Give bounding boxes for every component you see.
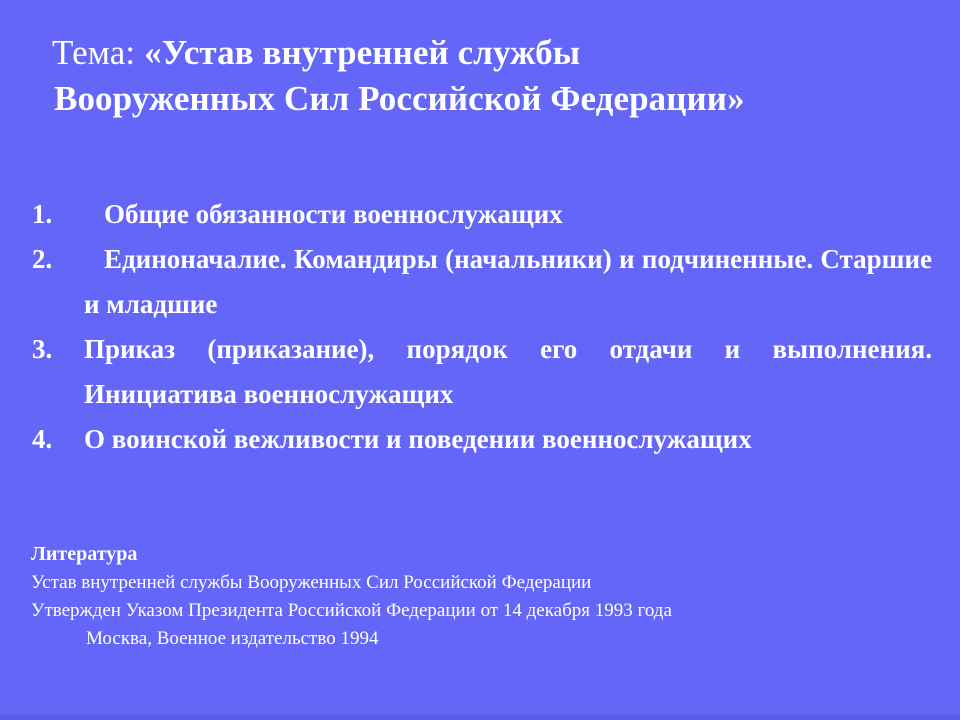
agenda-item-1: 1. Общие обязанности военнослужащих bbox=[32, 192, 932, 237]
slide-title: Тема: «Устав внутренней службы Вооруженн… bbox=[52, 30, 922, 122]
literature-heading: Литература bbox=[31, 540, 931, 569]
agenda-item-2-marker: 2. bbox=[32, 237, 84, 282]
agenda-item-4: 4. О воинской вежливости и поведении вое… bbox=[32, 417, 932, 462]
presentation-slide: Тема: «Устав внутренней службы Вооруженн… bbox=[0, 0, 960, 720]
literature-line-2: Утвержден Указом Президента Российской Ф… bbox=[31, 597, 931, 625]
agenda-item-4-text: О воинской вежливости и поведении военно… bbox=[84, 417, 932, 462]
literature-line-1: Устав внутренней службы Вооруженных Сил … bbox=[31, 569, 931, 597]
agenda-list: 1. Общие обязанности военнослужащих 2. Е… bbox=[32, 192, 932, 462]
agenda-item-3-marker: 3. bbox=[32, 327, 84, 372]
title-line-2: Вооруженных Сил Российской Федерации» bbox=[54, 76, 922, 122]
title-main-part-1: «Устав внутренней службы bbox=[144, 33, 580, 72]
agenda-item-1-text: Общие обязанности военнослужащих bbox=[84, 192, 932, 237]
agenda-item-2: 2. Единоначалие. Командиры (начальники) … bbox=[32, 237, 932, 327]
agenda-item-4-marker: 4. bbox=[32, 417, 84, 462]
agenda-item-2-text: Единоначалие. Командиры (начальники) и п… bbox=[84, 237, 932, 327]
agenda-item-1-marker: 1. bbox=[32, 192, 84, 237]
title-line-1: Тема: «Устав внутренней службы bbox=[52, 30, 922, 76]
agenda-item-3: 3. Приказ (приказание), порядок его отда… bbox=[32, 327, 932, 417]
literature-block: Литература Устав внутренней службы Воору… bbox=[31, 540, 931, 653]
slide-bottom-edge bbox=[0, 715, 960, 720]
literature-line-3: Москва, Военное издательство 1994 bbox=[31, 625, 931, 653]
agenda-item-3-text: Приказ (приказание), порядок его отдачи … bbox=[84, 327, 932, 417]
title-prefix: Тема: bbox=[52, 33, 144, 72]
